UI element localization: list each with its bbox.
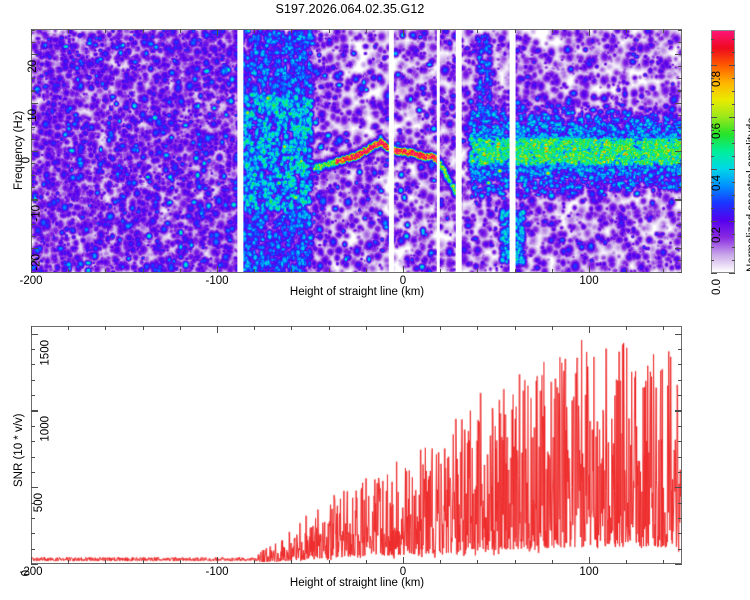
axis-tick bbox=[31, 334, 38, 335]
axis-tick bbox=[678, 175, 682, 176]
axis-tick-label: 0.0 bbox=[711, 279, 723, 295]
axis-tick bbox=[329, 29, 330, 33]
axis-tick bbox=[31, 549, 35, 550]
axis-tick bbox=[552, 29, 553, 33]
axis-tick bbox=[711, 195, 714, 196]
axis-tick-label: -20 bbox=[31, 254, 43, 271]
axis-tick bbox=[732, 130, 735, 131]
axis-tick bbox=[678, 472, 682, 473]
axis-tick bbox=[31, 224, 35, 225]
axis-tick bbox=[31, 395, 35, 396]
axis-tick bbox=[403, 29, 404, 36]
axis-tick bbox=[711, 39, 714, 40]
axis-tick bbox=[732, 39, 735, 40]
axis-tick bbox=[68, 326, 69, 330]
axis-tick-label: -10 bbox=[31, 205, 43, 222]
snr-y-axis-title: SNR (10 * v/v) bbox=[13, 414, 25, 488]
axis-tick bbox=[678, 272, 682, 273]
axis-tick bbox=[291, 326, 292, 330]
axis-tick bbox=[675, 487, 682, 488]
axis-tick bbox=[31, 272, 35, 273]
axis-tick bbox=[711, 91, 714, 92]
axis-tick bbox=[678, 549, 682, 550]
axis-tick-label: 0.4 bbox=[711, 175, 723, 191]
axis-tick bbox=[732, 156, 735, 157]
axis-tick bbox=[663, 326, 664, 330]
axis-tick-label: 100 bbox=[579, 566, 598, 578]
colorbar-title: Normalized spectral amplitude bbox=[746, 117, 750, 272]
axis-tick bbox=[678, 518, 682, 519]
axis-tick bbox=[729, 117, 735, 118]
axis-tick bbox=[678, 212, 682, 213]
axis-tick-label: 0.8 bbox=[711, 71, 723, 87]
axis-tick-label: 10 bbox=[27, 109, 39, 122]
axis-tick bbox=[711, 260, 714, 261]
axis-tick bbox=[626, 326, 627, 330]
axis-tick bbox=[678, 236, 682, 237]
spectrogram-y-axis-title: Frequency (Hz) bbox=[13, 111, 25, 190]
axis-tick bbox=[732, 52, 735, 53]
axis-tick bbox=[31, 441, 35, 442]
axis-tick bbox=[31, 557, 32, 564]
axis-tick bbox=[711, 221, 717, 222]
axis-tick bbox=[675, 199, 682, 200]
axis-tick bbox=[440, 29, 441, 33]
axis-tick bbox=[180, 560, 181, 564]
snr-line-series bbox=[32, 327, 681, 563]
axis-tick bbox=[31, 364, 35, 365]
axis-tick bbox=[31, 90, 35, 91]
axis-tick bbox=[31, 127, 35, 128]
axis-tick bbox=[31, 518, 35, 519]
axis-tick bbox=[732, 234, 735, 235]
axis-tick bbox=[711, 117, 717, 118]
axis-tick bbox=[678, 395, 682, 396]
axis-tick bbox=[329, 560, 330, 564]
axis-tick bbox=[675, 54, 682, 55]
axis-tick-label: 500 bbox=[33, 493, 45, 512]
axis-tick bbox=[143, 326, 144, 330]
axis-tick bbox=[477, 326, 478, 330]
axis-tick bbox=[31, 410, 38, 411]
axis-tick bbox=[515, 326, 516, 330]
axis-tick bbox=[711, 169, 717, 170]
axis-tick bbox=[711, 104, 714, 105]
axis-tick bbox=[477, 269, 478, 273]
axis-tick bbox=[31, 472, 35, 473]
axis-tick bbox=[678, 115, 682, 116]
axis-tick bbox=[711, 156, 714, 157]
axis-tick bbox=[589, 326, 590, 333]
axis-tick bbox=[678, 349, 682, 350]
axis-tick bbox=[217, 29, 218, 36]
axis-tick bbox=[31, 30, 35, 31]
axis-tick bbox=[626, 269, 627, 273]
axis-tick bbox=[675, 334, 682, 335]
axis-tick bbox=[678, 66, 682, 67]
axis-tick bbox=[31, 187, 35, 188]
axis-tick bbox=[31, 42, 35, 43]
axis-tick bbox=[31, 248, 38, 249]
axis-tick bbox=[678, 90, 682, 91]
axis-tick bbox=[678, 380, 682, 381]
axis-tick bbox=[31, 199, 38, 200]
axis-tick bbox=[291, 29, 292, 33]
axis-tick bbox=[291, 269, 292, 273]
axis-tick bbox=[678, 224, 682, 225]
axis-tick bbox=[678, 260, 682, 261]
axis-tick bbox=[105, 269, 106, 273]
axis-tick bbox=[143, 560, 144, 564]
axis-tick bbox=[589, 266, 590, 273]
axis-tick bbox=[403, 326, 404, 333]
axis-tick bbox=[663, 560, 664, 564]
axis-tick bbox=[68, 560, 69, 564]
axis-tick bbox=[31, 426, 35, 427]
axis-tick bbox=[732, 247, 735, 248]
axis-tick bbox=[675, 248, 682, 249]
axis-tick bbox=[254, 269, 255, 273]
axis-tick bbox=[329, 269, 330, 273]
axis-tick bbox=[729, 169, 735, 170]
axis-tick bbox=[515, 29, 516, 33]
axis-tick bbox=[678, 163, 682, 164]
axis-tick bbox=[732, 182, 735, 183]
axis-tick bbox=[711, 273, 717, 274]
axis-tick bbox=[732, 208, 735, 209]
axis-tick bbox=[732, 78, 735, 79]
axis-tick bbox=[626, 29, 627, 33]
axis-tick bbox=[254, 29, 255, 33]
axis-tick bbox=[515, 269, 516, 273]
axis-tick bbox=[440, 269, 441, 273]
axis-tick bbox=[105, 326, 106, 330]
axis-tick bbox=[31, 457, 35, 458]
axis-tick bbox=[732, 260, 735, 261]
axis-tick bbox=[180, 326, 181, 330]
axis-tick-label: 1500 bbox=[40, 340, 52, 366]
axis-tick-label: -100 bbox=[205, 275, 228, 287]
axis-tick bbox=[477, 29, 478, 33]
axis-tick bbox=[403, 557, 404, 564]
axis-tick bbox=[678, 503, 682, 504]
axis-tick bbox=[678, 187, 682, 188]
axis-tick bbox=[366, 326, 367, 330]
axis-tick bbox=[31, 103, 38, 104]
axis-tick bbox=[552, 560, 553, 564]
axis-tick-label: 20 bbox=[27, 60, 39, 73]
axis-tick bbox=[291, 560, 292, 564]
axis-tick bbox=[678, 30, 682, 31]
axis-tick bbox=[675, 410, 682, 411]
spectrogram-image bbox=[32, 30, 681, 272]
snr-x-axis-title: Height of straight line (km) bbox=[290, 577, 424, 589]
axis-tick bbox=[143, 29, 144, 33]
axis-tick bbox=[217, 326, 218, 333]
axis-tick bbox=[626, 560, 627, 564]
axis-tick bbox=[729, 273, 735, 274]
axis-tick bbox=[105, 560, 106, 564]
axis-tick bbox=[589, 29, 590, 36]
axis-tick bbox=[217, 266, 218, 273]
spectrogram-plot-area bbox=[31, 29, 682, 273]
axis-tick-label: -100 bbox=[205, 566, 228, 578]
axis-tick bbox=[329, 326, 330, 330]
axis-tick bbox=[366, 560, 367, 564]
axis-tick bbox=[31, 151, 38, 152]
plot-page: S197.2026.064.02.35.G12 -200-1000100 -20… bbox=[0, 0, 750, 600]
axis-tick bbox=[678, 42, 682, 43]
axis-tick bbox=[711, 208, 714, 209]
axis-tick bbox=[729, 221, 735, 222]
axis-tick-label: 1000 bbox=[40, 416, 52, 442]
axis-tick bbox=[552, 269, 553, 273]
page-title: S197.2026.064.02.35.G12 bbox=[0, 2, 700, 16]
axis-tick bbox=[31, 175, 35, 176]
axis-tick bbox=[68, 269, 69, 273]
axis-tick bbox=[663, 269, 664, 273]
axis-tick bbox=[31, 533, 35, 534]
axis-tick-label: 0 bbox=[20, 570, 32, 576]
axis-tick bbox=[254, 560, 255, 564]
axis-tick bbox=[105, 29, 106, 33]
axis-tick-label: 0.6 bbox=[711, 123, 723, 139]
axis-tick bbox=[180, 29, 181, 33]
axis-tick bbox=[732, 91, 735, 92]
axis-tick bbox=[180, 269, 181, 273]
axis-tick bbox=[678, 364, 682, 365]
axis-tick-label: 100 bbox=[579, 275, 598, 287]
axis-tick bbox=[31, 487, 38, 488]
axis-tick bbox=[711, 52, 714, 53]
axis-tick bbox=[711, 247, 714, 248]
axis-tick bbox=[31, 236, 35, 237]
axis-tick-label: 0.2 bbox=[711, 227, 723, 243]
axis-tick bbox=[589, 557, 590, 564]
axis-tick bbox=[732, 104, 735, 105]
axis-tick bbox=[675, 103, 682, 104]
axis-tick bbox=[366, 29, 367, 33]
axis-tick bbox=[31, 54, 38, 55]
axis-tick bbox=[729, 65, 735, 66]
axis-tick bbox=[440, 560, 441, 564]
axis-tick bbox=[31, 78, 35, 79]
axis-tick bbox=[515, 560, 516, 564]
axis-tick bbox=[678, 441, 682, 442]
axis-tick bbox=[31, 564, 38, 565]
axis-tick bbox=[403, 266, 404, 273]
spectrogram-x-axis-title: Height of straight line (km) bbox=[290, 286, 424, 298]
axis-tick bbox=[711, 65, 717, 66]
axis-tick bbox=[552, 326, 553, 330]
axis-tick bbox=[254, 326, 255, 330]
axis-tick bbox=[678, 426, 682, 427]
axis-tick bbox=[477, 560, 478, 564]
axis-tick bbox=[663, 29, 664, 33]
axis-tick bbox=[440, 326, 441, 330]
axis-tick bbox=[678, 127, 682, 128]
axis-tick bbox=[675, 564, 682, 565]
axis-tick bbox=[678, 457, 682, 458]
axis-tick bbox=[31, 349, 35, 350]
axis-tick bbox=[678, 533, 682, 534]
axis-tick bbox=[31, 380, 35, 381]
axis-tick bbox=[732, 143, 735, 144]
axis-tick bbox=[68, 29, 69, 33]
axis-tick bbox=[732, 195, 735, 196]
axis-tick bbox=[711, 143, 714, 144]
axis-tick bbox=[217, 557, 218, 564]
axis-tick-label: -200 bbox=[19, 275, 42, 287]
axis-tick bbox=[31, 326, 32, 333]
snr-plot-area bbox=[31, 326, 682, 564]
axis-tick bbox=[678, 139, 682, 140]
axis-tick bbox=[143, 269, 144, 273]
axis-tick bbox=[366, 269, 367, 273]
axis-tick bbox=[678, 78, 682, 79]
axis-tick bbox=[31, 139, 35, 140]
axis-tick bbox=[675, 151, 682, 152]
